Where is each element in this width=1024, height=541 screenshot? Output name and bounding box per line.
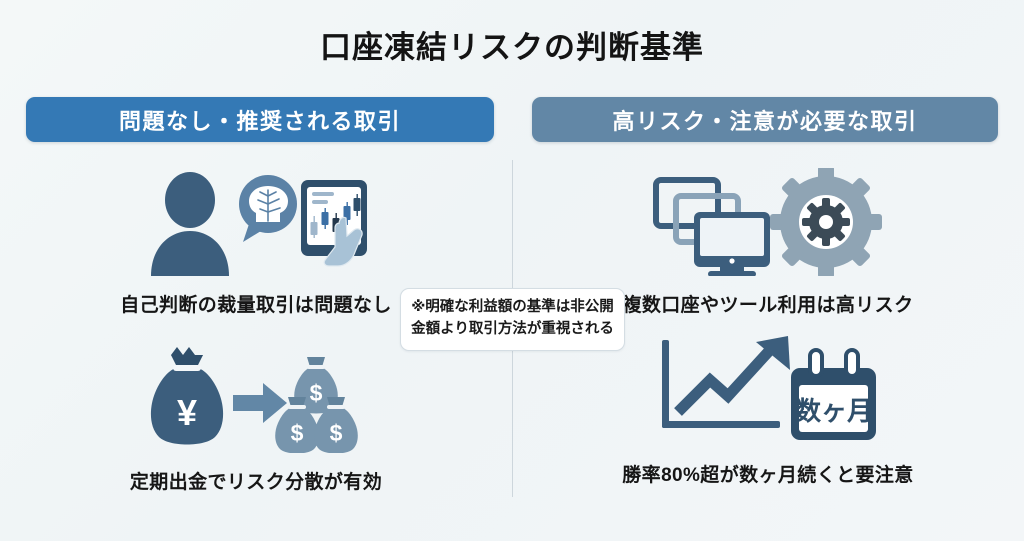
banner-right-label: 高リスク・注意が必要な取引: [612, 104, 917, 136]
small-bag-currency-symbol-2: $: [291, 420, 304, 446]
banner-safe-transactions: 問題なし・推奨される取引: [26, 97, 494, 142]
small-bag-currency-symbol-3: $: [330, 420, 343, 446]
banner-high-risk-transactions: 高リスク・注意が必要な取引: [532, 97, 998, 142]
right-item-2: 数ヶ月 勝率80%超が数ヶ月続くと要注意: [542, 338, 994, 487]
left-item-1-caption: 自己判断の裁量取引は問題なし: [120, 290, 392, 317]
money-bag-currency-symbol: ¥: [177, 392, 197, 433]
column-divider-lower: [512, 342, 513, 497]
note-line-2: 金額より取引方法が重視される: [411, 319, 614, 341]
right-item-2-caption: 勝率80%超が数ヶ月続くと要注意: [622, 460, 913, 487]
multi-monitor-gear-icon: [644, 168, 892, 276]
small-bag-currency-symbol-1: $: [310, 380, 323, 406]
column-divider-upper: [512, 160, 513, 288]
person-brain-tablet-icon: [143, 168, 369, 276]
banner-left-label: 問題なし・推奨される取引: [119, 104, 401, 136]
center-note-box: ※明確な利益額の基準は非公開 金額より取引方法が重視される: [400, 288, 625, 351]
money-bag-split-icon: ¥ $ $: [137, 345, 375, 453]
left-item-2-caption: 定期出金でリスク分散が有効: [130, 467, 382, 494]
left-item-2: ¥ $ $: [30, 345, 482, 494]
calendar-label: 数ヶ月: [795, 396, 873, 426]
note-line-1: ※明確な利益額の基準は非公開: [411, 297, 614, 319]
rising-chart-calendar-icon: 数ヶ月: [648, 338, 888, 446]
right-item-1-caption: 複数口座やツール利用は高リスク: [622, 290, 913, 317]
page-title: 口座凍結リスクの判断基準: [0, 22, 1024, 67]
